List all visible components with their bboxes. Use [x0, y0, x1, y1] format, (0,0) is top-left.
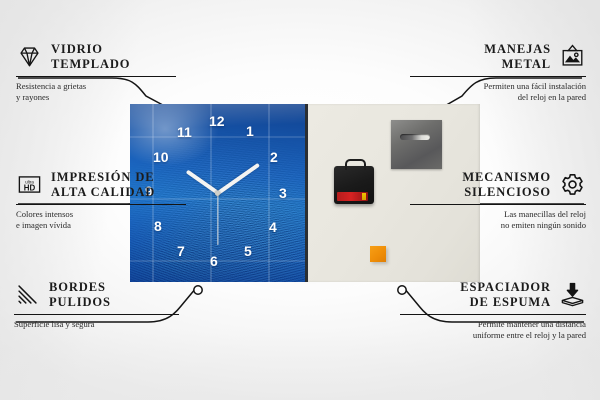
clock-numeral: 11 [177, 125, 192, 139]
callout-title: MECANISMO SILENCIOSO [462, 170, 551, 200]
hanger-slot [400, 134, 430, 140]
clock-numeral: 1 [246, 124, 254, 138]
callout-subtitle: Resistencia a grietas y rayones [16, 81, 176, 104]
callout-manejas-metal: MANEJAS METAL Permiten una fácil instala… [410, 42, 586, 104]
clock-numeral: 4 [269, 220, 277, 234]
clock-second-hand [217, 193, 218, 245]
callout-mecanismo-silencioso: MECANISMO SILENCIOSO Las manecillas del … [410, 170, 586, 232]
callout-espaciador-espuma: ESPACIADOR DE ESPUMA Permite mantener un… [400, 280, 586, 342]
foam-spacer-pad [370, 246, 386, 262]
gear-icon [559, 171, 586, 198]
framed-picture-icon [559, 43, 586, 70]
diamond-icon [16, 43, 43, 70]
clock-center-pin [215, 191, 220, 196]
callout-subtitle: Las manecillas del reloj no emiten ningú… [410, 209, 586, 232]
ultra-hd-bottom: HD [24, 184, 36, 193]
callout-rule [16, 76, 176, 78]
callout-subtitle: Superficie lisa y segura [14, 319, 179, 330]
clock-numeral: 2 [270, 150, 278, 164]
callout-bordes-pulidos: BORDES PULIDOS Superficie lisa y segura [14, 280, 179, 330]
callout-title: IMPRESIÓN DE ALTA CALIDAD [51, 170, 155, 200]
clock-numeral: 7 [177, 244, 185, 258]
callout-subtitle: Permite mantener una distancia uniforme … [400, 319, 586, 342]
callout-impresion-alta-calidad: ultra HD IMPRESIÓN DE ALTA CALIDAD Color… [16, 170, 186, 232]
callout-title: BORDES PULIDOS [49, 280, 111, 310]
callout-rule [400, 314, 586, 316]
clock-numeral: 3 [279, 186, 287, 200]
callout-rule [16, 204, 186, 206]
callout-rule [410, 204, 586, 206]
battery [337, 192, 368, 201]
callout-rule [14, 314, 179, 316]
clock-numeral: 6 [210, 254, 218, 268]
callout-title: VIDRIO TEMPLADO [51, 42, 130, 72]
clock-numeral: 12 [209, 114, 225, 128]
mechanism-hook [345, 159, 366, 170]
callout-subtitle: Permiten una fácil instalación del reloj… [410, 81, 586, 104]
callout-rule [410, 76, 586, 78]
callout-subtitle: Colores intensos e imagen vívida [16, 209, 186, 232]
metal-hanger-plate [391, 120, 442, 169]
clock-numeral: 5 [244, 244, 252, 258]
callout-vidrio-templado: VIDRIO TEMPLADO Resistencia a grietas y … [16, 42, 176, 104]
polished-edge-icon [14, 281, 41, 308]
infographic-canvas: 12 1 2 3 4 5 6 7 8 9 10 11 [0, 0, 600, 400]
foam-spacer-icon [559, 281, 586, 308]
clock-mechanism [334, 166, 374, 204]
callout-title: ESPACIADOR DE ESPUMA [460, 280, 551, 310]
clock-numeral: 10 [153, 150, 169, 164]
callout-title: MANEJAS METAL [484, 42, 551, 72]
ultra-hd-icon: ultra HD [16, 171, 43, 198]
